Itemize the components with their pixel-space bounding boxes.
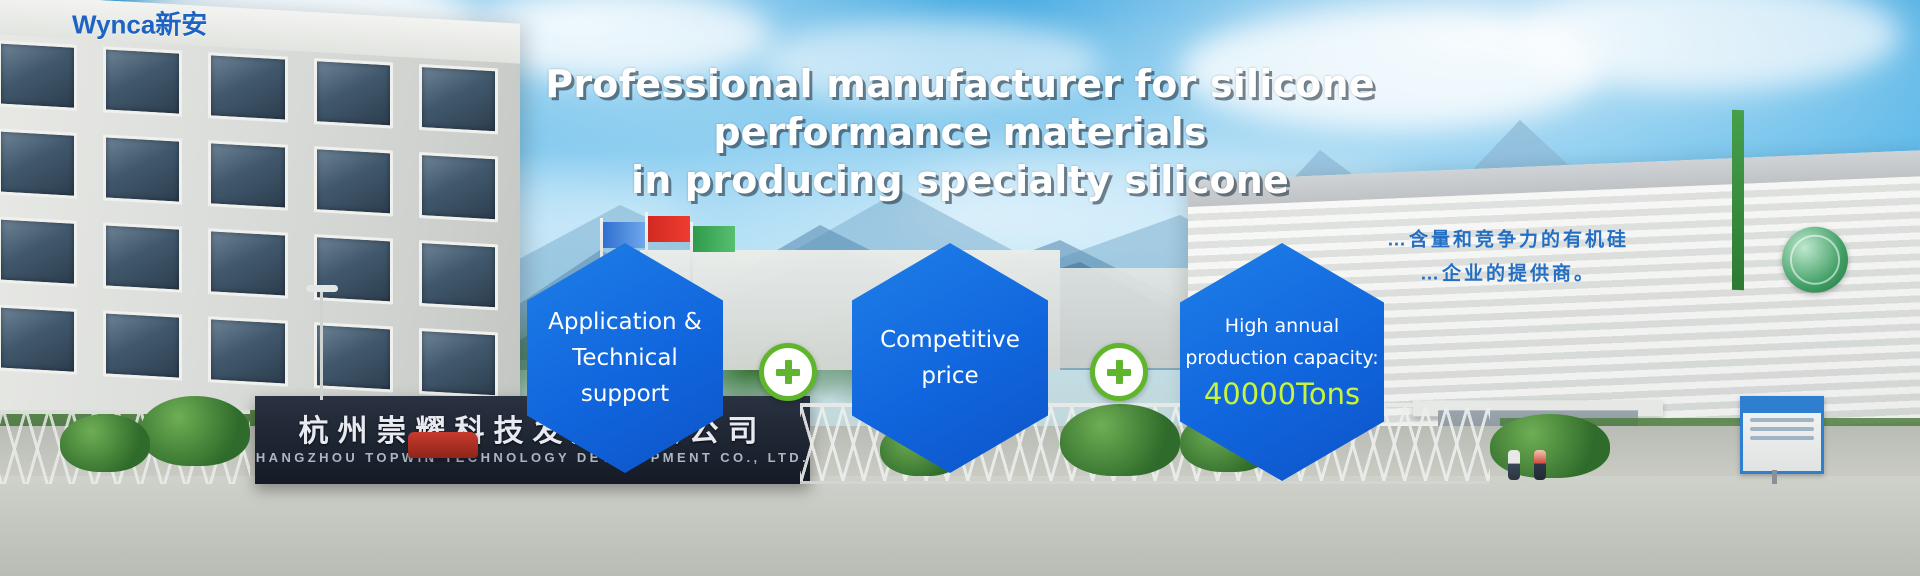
notice-board-post <box>1772 470 1777 484</box>
flag-china <box>648 216 690 242</box>
flag <box>693 226 735 252</box>
road <box>0 476 1920 576</box>
plus-icon <box>1090 343 1148 401</box>
badge-1-line-1: Application & <box>548 304 702 340</box>
shrub <box>140 396 250 466</box>
badge-2-line-1: Competitive <box>880 322 1020 358</box>
badge-2-line-2: price <box>921 358 978 394</box>
globe-sculpture <box>1782 227 1848 293</box>
window-grid <box>0 40 498 398</box>
badge-3-capacity-value: 40000Tons <box>1204 374 1360 414</box>
shrub <box>1060 404 1180 476</box>
wall-slogan: …含量和竞争力的有机硅 …企业的提供商。 <box>1298 224 1718 292</box>
wynca-logo: Wynca新安 <box>72 4 207 41</box>
badge-1-line-2: Technical <box>572 340 678 376</box>
wall-slogan-line2: …企业的提供商。 <box>1298 258 1718 292</box>
plus-icon <box>759 343 817 401</box>
badge-3-line-2: production capacity: <box>1185 342 1378 374</box>
hero-banner: Wynca新安 …含量和竞争力的有机硅 …企业的提供商。 杭州崇耀科技发展有限公… <box>0 0 1920 576</box>
wall-slogan-line1: …含量和竞争力的有机硅 <box>1298 224 1718 258</box>
badge-1-line-3: support <box>581 376 669 412</box>
company-name-english: HANGZHOU TOPWIN TECHNOLOGY DEVELOPMENT C… <box>255 450 810 465</box>
notice-board <box>1740 396 1824 474</box>
badge-3-line-1: High annual <box>1225 310 1339 342</box>
person <box>1508 450 1520 480</box>
person <box>1534 450 1546 480</box>
notice-board-header <box>1743 399 1821 413</box>
green-column <box>1732 110 1744 291</box>
parked-car <box>408 432 478 458</box>
street-lamp <box>320 290 323 400</box>
shrub <box>60 414 150 472</box>
